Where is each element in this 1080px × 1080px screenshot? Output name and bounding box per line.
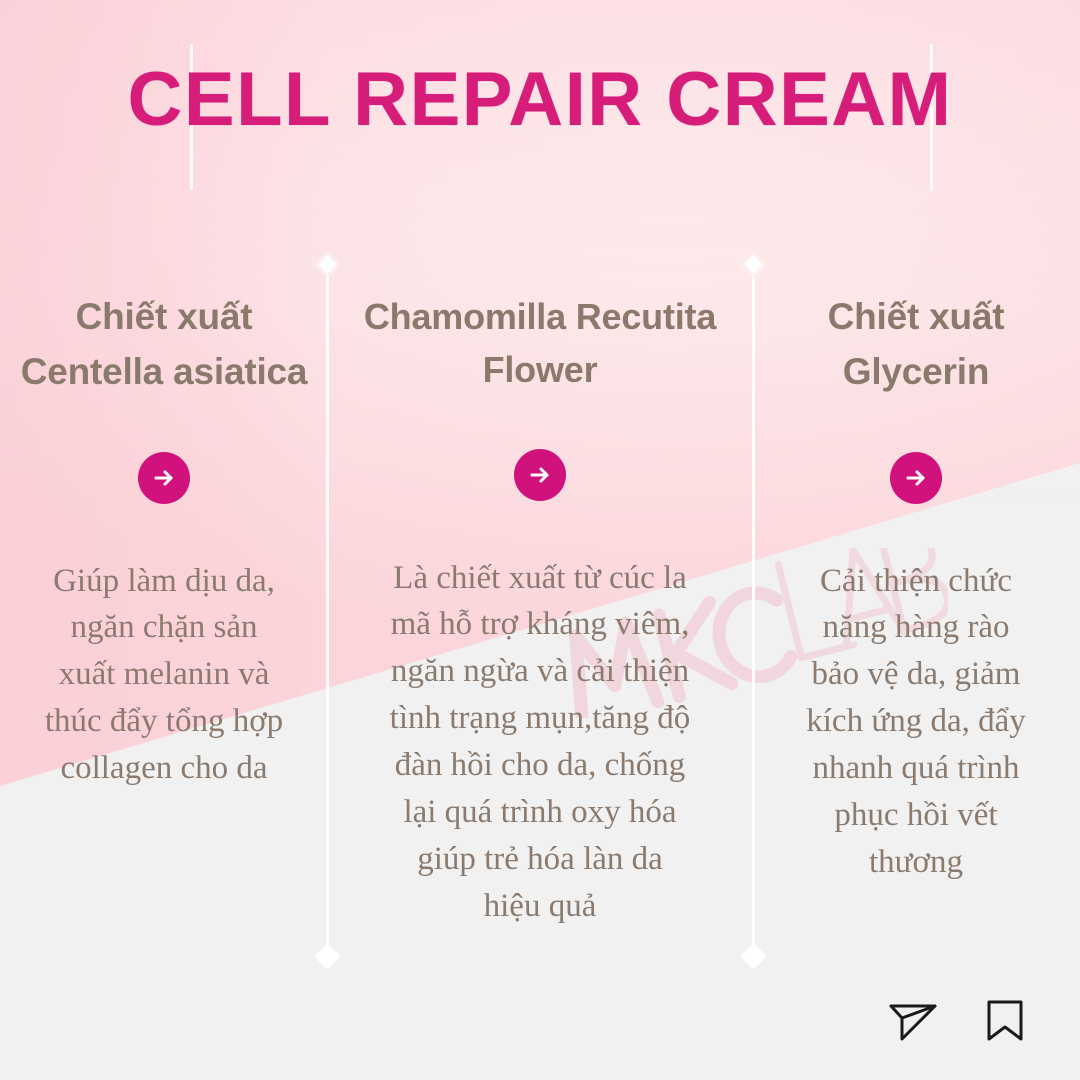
arrow-right-icon[interactable] <box>138 452 190 504</box>
arrow-right-icon[interactable] <box>514 449 566 501</box>
arrow-button-wrap <box>14 452 314 504</box>
column-description: Giúp làm dịu da, ngăn chặn sản xuất mela… <box>14 558 314 792</box>
bookmark-icon[interactable] <box>978 992 1032 1046</box>
ingredient-column-chamomilla: Chamomilla Recutita Flower Là chiết xuất… <box>340 290 740 929</box>
column-heading: Chiết xuất Glycerin <box>766 290 1066 400</box>
ingredient-column-centella: Chiết xuất Centella asiatica Giúp làm dị… <box>14 290 314 792</box>
column-description: Là chiết xuất từ cúc la mã hỗ trợ kháng … <box>340 555 740 930</box>
bottom-icon-bar <box>886 992 1032 1046</box>
arrow-button-wrap <box>766 452 1066 504</box>
arrow-right-icon[interactable] <box>890 452 942 504</box>
column-divider-1 <box>326 262 329 964</box>
ingredient-column-glycerin: Chiết xuất Glycerin Cải thiện chức năng … <box>766 290 1066 886</box>
infographic-canvas: CELL REPAIR CREAM Chiết xuất Centella as… <box>0 0 1080 1080</box>
arrow-button-wrap <box>340 449 740 501</box>
column-heading: Chiết xuất Centella asiatica <box>14 290 314 400</box>
column-description: Cải thiện chức năng hàng rào bảo vệ da, … <box>766 558 1066 886</box>
column-divider-2 <box>752 262 755 964</box>
column-heading: Chamomilla Recutita Flower <box>340 290 740 397</box>
share-paper-plane-icon[interactable] <box>886 992 940 1046</box>
page-title: CELL REPAIR CREAM <box>0 56 1080 143</box>
